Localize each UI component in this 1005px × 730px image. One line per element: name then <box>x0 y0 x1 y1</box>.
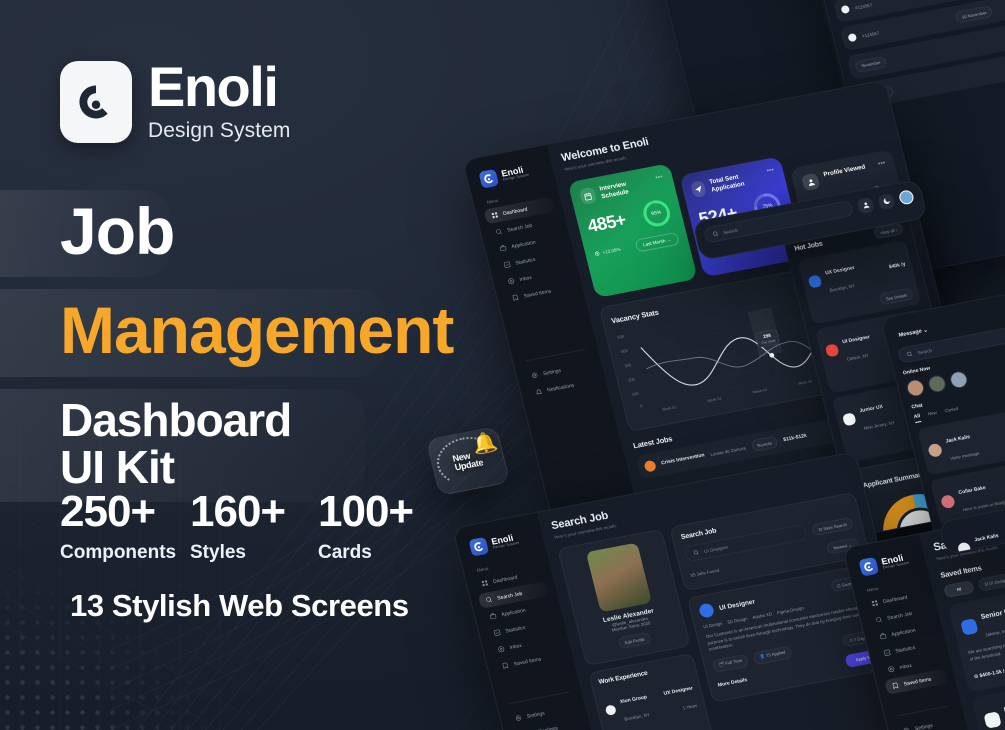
sidebar-item-label: Search Job <box>497 590 523 601</box>
section-title: Applicant Summary <box>862 471 925 489</box>
svg-text:Week 04: Week 04 <box>797 379 812 386</box>
application-date: November <box>861 84 895 102</box>
job-search-value: UI Designer <box>703 544 728 553</box>
saved-items-tabs: All ⊡ UI Design ⊡ UX Design <box>943 556 1005 599</box>
job-location: New Jersey, NY <box>863 420 895 431</box>
app-logo: Enoli Design System <box>468 528 536 557</box>
dotted-arc-decoration <box>432 432 505 490</box>
bookmark-icon <box>501 662 510 670</box>
page-title: Saved Items <box>932 512 1005 554</box>
calendar-icon <box>579 187 597 205</box>
chat-label: Chat <box>911 376 1005 410</box>
edit-profile-button[interactable]: Edit Profile <box>617 632 652 650</box>
avatar <box>953 545 969 560</box>
checkbox[interactable] <box>847 33 857 42</box>
sidebar-item-label: Saved Items <box>513 656 542 667</box>
moon-icon <box>881 197 891 206</box>
stat-card-title: Total Sent Application <box>709 169 764 194</box>
chart-tooltip-value: 298 <box>763 333 772 339</box>
sidebar-item-label: Search Job <box>507 222 533 233</box>
application-id: #124567 <box>855 2 873 10</box>
list-item[interactable]: Xion Group Brooklyn, NY UX Designer 1 Ye… <box>601 673 700 730</box>
svg-text:0: 0 <box>640 403 644 408</box>
stat-label: Styles <box>190 542 294 564</box>
mockup-dashboard-topbar: Search <box>692 179 928 261</box>
avatar[interactable] <box>905 378 926 398</box>
job-type-chip: 🗂 Full Time <box>712 654 750 673</box>
job-title: Crisis Intervention <box>661 452 706 466</box>
saved-job-badge[interactable]: ⊡ Saved Job <box>830 574 869 592</box>
sidebar-item-settings[interactable]: Settings <box>507 700 579 728</box>
sidebar-item-label: Dashboard <box>502 206 528 216</box>
company-logo-icon <box>825 343 840 357</box>
sidebar-item-search-job[interactable]: Search Job <box>488 213 560 241</box>
avatar <box>927 442 943 457</box>
avatar <box>957 542 972 555</box>
view-all-button[interactable]: View all › <box>873 222 904 239</box>
experience-place: Brooklyn, NY <box>624 712 650 722</box>
mockup-dashboard: Enoli Design System Menu Dashboard Searc… <box>462 79 982 548</box>
sidebar-divider <box>525 349 585 361</box>
saved-items-main: Saved Items Here's your overview this mo… <box>920 500 1005 730</box>
experience-role: UX Designer <box>663 685 694 696</box>
job-salary: $11k-$12k <box>783 433 808 443</box>
donut-center-label: Total <box>911 522 931 534</box>
online-avatars <box>905 353 1005 398</box>
stat-card-value: 258+ <box>808 195 851 223</box>
job-location: Lomas de Zamora <box>710 445 746 457</box>
tab-all[interactable]: All <box>943 580 974 598</box>
promo-poster: Saved Items Settings Notifications <box>0 0 1005 730</box>
chart-icon <box>503 261 512 269</box>
more-options-icon[interactable]: ••• <box>877 160 886 168</box>
job-role: UI Designer <box>718 598 755 612</box>
table-row[interactable]: #124567 10 November Envoy Shipm... <box>840 0 1005 51</box>
profile-handle: @leslie_alexandra <box>586 611 674 632</box>
saved-job-card[interactable]: Senior UI Design Jakarta, Indonesia We a… <box>948 575 1005 693</box>
chat-thread[interactable]: Jack Kalis Sunes is typing... 12:12 <box>947 508 1005 555</box>
job-pay: $40k /y <box>888 261 906 270</box>
gear-icon <box>902 726 911 730</box>
sidebar-footer-label: Settings <box>914 722 933 730</box>
new-update-text: New <box>675 177 704 195</box>
logo-subtitle: Design System <box>883 562 910 571</box>
job-role: Junior UX <box>859 404 884 414</box>
job-tag: Adobe XD <box>752 611 773 620</box>
menu-label: Menu <box>476 556 540 573</box>
job-type-chip: Remote <box>750 435 779 452</box>
chart-title: Vacancy Stats <box>610 307 659 325</box>
tab-closed[interactable]: Closed <box>944 406 960 417</box>
section-title: Latest Jobs <box>632 434 673 450</box>
grid-icon <box>871 599 880 607</box>
chat-tabs: All New Closed <box>913 386 1005 423</box>
tab-new[interactable]: New <box>927 410 938 420</box>
vacancy-line-chart: 500400300 2001000 298 This Week <box>614 273 935 419</box>
company-logo-icon <box>983 711 1001 728</box>
mockup-chat-notification: Jack Kalis Sunes is typing... 12:12 <box>938 499 1005 555</box>
enoli-mark-icon <box>858 557 879 577</box>
sidebar-footer-label: Settings <box>526 710 545 719</box>
new-update-badge-secondary: New Update 🔔 <box>426 426 511 496</box>
list-item[interactable]: Junior UX New Jersey, NY $100k /y See De… <box>832 378 956 463</box>
stats-row: 250+ Components 160+ Styles 100+ Cards <box>60 490 420 564</box>
dotted-arc-decoration <box>633 142 745 230</box>
search-icon <box>485 596 494 604</box>
avatar <box>586 543 652 613</box>
company-logo-icon <box>808 275 823 289</box>
more-options-icon[interactable]: ••• <box>766 167 775 175</box>
headline-block: Job Management Dashboard UI Kit <box>0 190 420 514</box>
sidebar-divider <box>897 705 949 716</box>
chart-tooltip-label: This Week <box>761 338 777 345</box>
sidebar-item-statistics[interactable]: Statistics <box>876 636 940 662</box>
page-title: Search Job <box>550 464 850 532</box>
sidebar-item-statistics[interactable]: Statistics <box>486 614 558 642</box>
job-tag: Figma Design <box>776 605 804 615</box>
page-subtitle: Here's your overview this month. <box>564 107 882 172</box>
search-placeholder: Search <box>917 347 933 355</box>
sidebar-item-label: Inbox <box>509 642 522 650</box>
thread-preview: Here is some ui design <box>962 499 1005 512</box>
sidebar-item-saved-items[interactable]: Saved Items <box>494 647 566 675</box>
applicant-donut-chart: Total 550 Ap <box>871 484 972 537</box>
sidebar-item-settings[interactable]: Settings <box>895 713 959 730</box>
avatar[interactable] <box>948 370 969 390</box>
sidebar-item-label: Saved Items <box>903 676 932 687</box>
svg-text:200: 200 <box>627 376 636 382</box>
more-options-icon[interactable]: ⋮ <box>945 406 951 413</box>
profile-button[interactable] <box>856 196 874 213</box>
stat-label: Cards <box>318 542 420 564</box>
profile-card: Leslie Alexander @leslie_alexandra Membe… <box>557 529 690 666</box>
tab-ui-design[interactable]: ⊡ UI Design <box>977 573 1005 592</box>
briefcase-icon <box>499 244 508 252</box>
brand-lockup: Enoli Design System <box>60 60 291 143</box>
menu-label: Menu <box>486 188 550 205</box>
job-role: UI Designer <box>842 334 871 345</box>
svg-text:500: 500 <box>617 334 626 340</box>
last-month-button[interactable]: Last Month → <box>635 232 680 253</box>
job-location: Clinton, NY <box>846 353 869 362</box>
see-details-button[interactable]: See Details <box>896 356 932 374</box>
sidebar-item-label: Application <box>501 607 527 617</box>
search-icon <box>693 549 700 556</box>
stat-card-interview-schedule[interactable]: Interview Schedule ••• 485+ 95% <box>568 163 698 298</box>
sidebar-footer-label: Settings <box>542 367 561 376</box>
sidebar-footer-label: Notifications <box>530 725 558 730</box>
company-logo-icon <box>605 704 617 716</box>
stat-number: 100+ <box>318 490 420 534</box>
app-logo: Enoli Design System <box>858 549 918 576</box>
donut-center-value: 550 Ap <box>914 533 934 536</box>
list-item[interactable]: UI Designer Clinton, NY $120k /y See Det… <box>815 309 939 394</box>
stat-card-value: 524+ <box>697 202 740 230</box>
bell-icon: 🔔 <box>690 148 734 184</box>
mockup-inbox-screen: Message ⌄ Search Online Now Chat All New… <box>880 286 1005 580</box>
sidebar-item-saved-items[interactable]: Saved Items <box>884 669 948 695</box>
gear-icon <box>514 714 523 722</box>
see-details-button[interactable]: See Details <box>878 288 914 306</box>
web-screens-line: 13 Stylish Web Screens <box>70 588 409 624</box>
dashboard-main: Welcome to Enoli Here's your overview th… <box>548 80 981 530</box>
stat-card-delta: +08.12% <box>705 240 732 250</box>
chat-thread[interactable]: Jack Kalis Voice message 12:12 <box>917 400 1005 475</box>
search-input[interactable]: Search <box>703 200 854 244</box>
sidebar-item-dashboard[interactable]: Dashboard <box>864 586 928 612</box>
chat-thread[interactable]: John Hearns Send Document 12:02 <box>943 503 1005 578</box>
profile-name: Leslie Alexander <box>584 604 672 627</box>
svg-text:300: 300 <box>624 362 633 368</box>
view-all-button[interactable]: View all › <box>920 379 951 396</box>
sidebar-item-label: Saved Items <box>523 288 552 299</box>
sort-dropdown[interactable]: Newest ⌄ <box>826 537 859 554</box>
sidebar-item-label: Inbox <box>519 274 532 282</box>
job-description: Our Customer is an American multinationa… <box>705 602 877 653</box>
mockup-sidebar-fragment: Saved Items Settings Notifications <box>636 0 858 173</box>
table-row[interactable]: November Payroll Ease <box>847 3 1005 80</box>
application-date: 10 November <box>954 5 993 24</box>
view-all-button[interactable]: View all › <box>880 258 911 275</box>
sidebar-item-label: Dashboard <box>882 594 908 604</box>
more-details-link[interactable]: More Details <box>717 677 748 688</box>
online-now-label: Online Now <box>902 342 1005 376</box>
progress-ring: 50% <box>861 182 898 217</box>
welcome-header: Welcome to Enoli Here's your overview th… <box>560 92 882 172</box>
sidebar-item-inbox[interactable]: Inbox <box>500 263 572 291</box>
sidebar-item-application[interactable]: Application <box>492 230 564 258</box>
sidebar-divider <box>509 692 569 704</box>
checkbox[interactable] <box>840 5 850 14</box>
application-date: November <box>854 55 888 73</box>
sidebar-item-dashboard[interactable]: Dashboard <box>484 197 556 225</box>
brand-logo <box>60 61 132 143</box>
sidebar-item-saved-items[interactable]: Saved Items <box>504 279 576 307</box>
search-icon <box>712 230 719 237</box>
profile-member-since: Member Since 2020 <box>587 616 675 637</box>
work-experience-card: Work Experience Xion Group Brooklyn, NY … <box>588 652 745 730</box>
job-location: Jakarta, Indonesia <box>985 626 1005 638</box>
applicant-summary-card: Applicant Summary ••• Total 550 Ap <box>850 449 983 536</box>
mockup-dashboard-right-rail: Hot Jobs View all › UX Designer Brooklyn… <box>782 212 983 537</box>
brand-name: Enoli <box>148 60 291 113</box>
saved-job-card[interactable]: Product Designer Clayton, Virginia In th… <box>971 668 1005 730</box>
sidebar-item-settings[interactable]: Settings <box>524 357 596 385</box>
see-details-button[interactable]: See Details <box>913 425 949 443</box>
thread-preview: Voice message <box>949 451 980 461</box>
search-icon <box>875 616 884 624</box>
job-salary: ⊙ $400-1.5k / month <box>973 665 1005 680</box>
svg-text:Week 05: Week 05 <box>843 371 858 378</box>
apply-now-button[interactable]: Apply Now <box>893 409 925 424</box>
progress-ring: 75% <box>749 189 786 224</box>
thread-name: John Hearns <box>971 536 1002 548</box>
sidebar-item-notifications[interactable]: Notifications <box>511 716 583 730</box>
mockup-search-job-screen: Enoli Design System Menu Dashboard Searc… <box>452 451 928 730</box>
section-title: Search Job <box>680 502 849 541</box>
more-options-icon[interactable]: ••• <box>935 460 956 481</box>
search-job-sidebar: Enoli Design System Menu Dashboard Searc… <box>453 513 610 730</box>
logo-name: Enoli <box>880 553 904 567</box>
section-title: Hot Jobs <box>794 240 824 252</box>
chart-icon <box>493 629 502 637</box>
bell-icon <box>535 388 544 396</box>
list-item[interactable]: Crisis Intervention Lomas de Zamora Remo… <box>636 396 959 480</box>
bookmark-icon[interactable] <box>928 406 940 418</box>
job-pay: $120k /y <box>903 330 924 339</box>
stat-cards: 100+ Cards <box>312 490 420 564</box>
sidebar-item-search-job[interactable]: Search Job <box>478 581 550 609</box>
stat-card-title: Profile Viewed <box>823 164 866 179</box>
sidebar-item-application[interactable]: Application <box>482 598 554 626</box>
stat-card-row: Interview Schedule ••• 485+ 95% <box>568 122 914 298</box>
dark-mode-toggle[interactable] <box>877 193 895 210</box>
hero-panel: Enoli Design System Job Management Dashb… <box>0 0 430 730</box>
search-job-main: Search Job Here's your overview this mon… <box>538 452 927 730</box>
job-result-card[interactable]: UI Designer ⊡ Saved Job UI Design 3D Des… <box>687 563 898 703</box>
table-row[interactable]: November Pharos Payroll <box>854 32 1005 109</box>
progress-ring-label: 75% <box>749 189 786 224</box>
company-logo-icon <box>698 602 715 618</box>
chart-icon <box>883 649 892 657</box>
enoli-mark-icon <box>74 80 118 124</box>
logo-subtitle: Design System <box>493 542 520 551</box>
page-title: Welcome to Enoli <box>560 92 880 164</box>
sidebar-item-label: Inbox <box>899 662 912 670</box>
new-update-badge: New 🔔 <box>625 134 754 238</box>
sidebar-item-label: Statistics <box>515 256 536 266</box>
bookmark-icon <box>891 682 900 690</box>
message-dropdown[interactable]: Message ⌄ <box>893 324 934 342</box>
mockup-application-list: #124567 24 September Astervale #124567 2… <box>786 0 1005 277</box>
enoli-mark-icon <box>468 537 489 557</box>
stat-card-profile-viewed[interactable]: Profile Viewed ••• 258+ 50% <box>790 149 913 257</box>
job-description: In the eighteenth century the German phi… <box>991 716 1005 730</box>
message-search-input[interactable]: Search <box>897 320 1005 364</box>
job-pay: $100k /y <box>920 399 941 408</box>
inbox-icon <box>887 665 896 673</box>
sidebar-item-notifications[interactable]: Notifications <box>528 373 600 401</box>
table-row[interactable]: #124567 6 November Binford Ltd. <box>833 0 1005 23</box>
sidebar-item-statistics[interactable]: Statistics <box>496 246 568 274</box>
stat-number: 250+ <box>60 490 168 534</box>
sidebar-item-search-job[interactable]: Search Job <box>868 603 932 629</box>
logo-name: Enoli <box>490 533 514 547</box>
svg-text:Week 06: Week 06 <box>888 362 903 369</box>
experience-years: 1 Years <box>682 702 698 710</box>
page-subtitle: Here's your overview this month. <box>554 478 852 540</box>
mockup-saved-items-screen: Enoli Design System Menu Dashboard Searc… <box>842 499 1005 730</box>
last-month-button[interactable]: Last Month → <box>746 225 791 246</box>
headline-line-1: Job <box>0 190 170 277</box>
briefcase-icon <box>879 632 888 640</box>
svg-text:100: 100 <box>631 391 640 397</box>
stat-number: 160+ <box>190 490 294 534</box>
headline-line-3: Dashboard UI Kit <box>0 389 365 503</box>
job-description: We are searching involves the mechanisms… <box>967 623 1005 663</box>
thread-preview: Send Document <box>975 553 1005 564</box>
user-icon <box>801 173 821 192</box>
send-icon <box>690 180 707 198</box>
sidebar-footer-label: Notifications <box>547 382 575 393</box>
thread-preview: Sunes is typing... <box>978 549 1005 555</box>
sidebar-item-label: Application <box>511 239 537 249</box>
sidebar-item-label: Statistics <box>505 624 526 634</box>
thread-name: Jack Kalis <box>945 434 971 444</box>
sidebar-item-dashboard[interactable]: Dashboard <box>474 565 546 593</box>
apply-now-button[interactable]: Apply Now <box>844 648 887 668</box>
search-icon <box>906 351 913 358</box>
user-icon <box>861 201 871 210</box>
headline-line-2: Management <box>0 289 385 376</box>
avatar <box>940 494 956 509</box>
latest-jobs-section: Latest Jobs View all › Crisis Interventi… <box>632 379 959 479</box>
sidebar-item-label: Application <box>891 627 917 637</box>
inbox-icon <box>497 645 506 653</box>
section-title: Work Experience <box>598 662 688 686</box>
svg-text:Week 01: Week 01 <box>662 405 677 412</box>
results-count: 55 Jobs Found <box>690 567 720 577</box>
svg-text:400: 400 <box>620 348 629 354</box>
sidebar-item-inbox[interactable]: Inbox <box>880 652 944 678</box>
search-placeholder: Search <box>723 227 739 235</box>
stat-card-total-sent-application[interactable]: Total Sent Application ••• 524+ 75% <box>679 156 805 277</box>
job-search-input[interactable]: UI Designer <box>683 524 808 563</box>
chat-thread[interactable]: Jack Kalis Sunes is typing... 12:12 <box>955 555 1005 580</box>
job-role: Senior UI Design <box>980 604 1005 621</box>
stat-card-delta: +13.28% <box>817 233 844 243</box>
progress-ring: 95% <box>638 196 675 231</box>
section-title: Saved Items <box>939 541 1005 580</box>
stat-styles: 160+ Styles <box>186 490 294 564</box>
job-location: Brooklyn, NY <box>829 283 855 293</box>
briefcase-icon <box>489 612 498 620</box>
search-panel: Search Job UI Designer ⊡ Save Search 55 … <box>669 492 870 591</box>
list-item[interactable]: UX Designer Brooklyn, NY $40k /y See Det… <box>797 240 921 325</box>
saved-items-sidebar: Enoli Design System Menu Dashboard Searc… <box>843 534 977 730</box>
chat-thread[interactable]: Collar Bake Here is some ui design 12:10 <box>930 452 1005 527</box>
svg-text:Week 02: Week 02 <box>707 397 722 404</box>
avatar[interactable] <box>927 374 948 394</box>
sidebar-item-label: Dashboard <box>492 574 518 584</box>
bell-icon: 🔔 <box>470 431 499 455</box>
search-icon <box>495 228 504 236</box>
avatar[interactable] <box>898 189 915 205</box>
job-role: UX Designer <box>825 265 856 276</box>
sidebar-item-inbox[interactable]: Inbox <box>490 631 562 659</box>
bookmark-icon <box>511 294 520 302</box>
thread-name: Jack Kalis <box>974 533 1000 543</box>
list-item[interactable]: Tech-ies Co. Clinton, NY UI Designer 3 Y… <box>612 719 711 730</box>
tab-all[interactable]: All <box>913 413 921 423</box>
gear-icon <box>530 371 539 379</box>
progress-ring-label: 95% <box>638 196 675 231</box>
menu-label: Menu <box>866 578 922 593</box>
more-options-icon[interactable]: ••• <box>655 174 664 182</box>
sidebar-item-application[interactable]: Application <box>872 619 936 645</box>
app-logo: Enoli Design System <box>478 160 546 189</box>
new-update-text: New Update <box>452 449 485 472</box>
stat-label: Components <box>60 542 168 564</box>
vacancy-stats-card: Vacancy Stats View all › 500400300 20010… <box>599 247 947 432</box>
logo-subtitle: Design System <box>503 174 530 183</box>
last-month-button[interactable]: Last Month → <box>857 218 902 239</box>
save-search-button[interactable]: ⊡ Save Search <box>811 517 854 536</box>
job-avatar <box>643 459 656 472</box>
inbox-icon <box>507 277 516 285</box>
dashboard-sidebar: Enoli Design System Menu Dashboard Searc… <box>463 145 644 547</box>
stat-card-title: Interview Schedule <box>599 176 653 201</box>
